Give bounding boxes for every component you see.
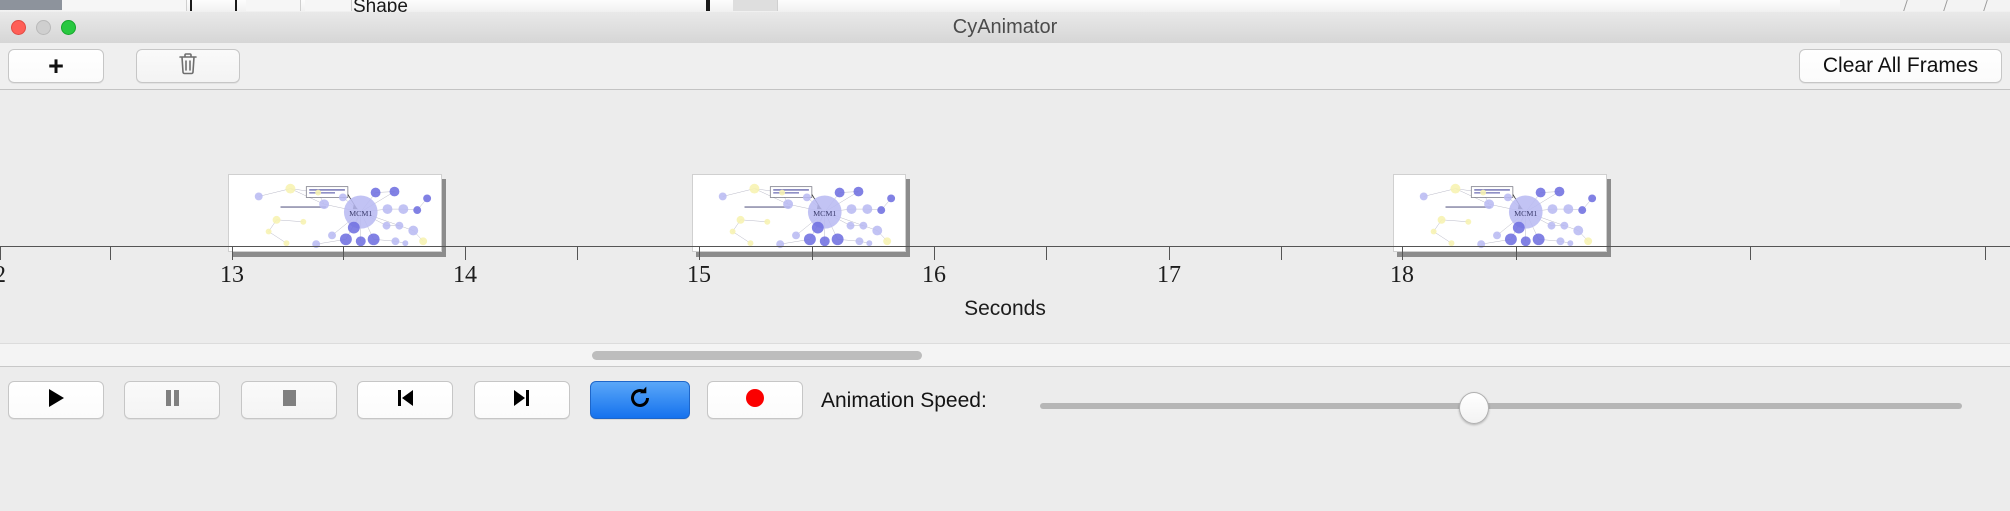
timeline-major-tick: [699, 247, 700, 260]
timeline-frame[interactable]: MCM1: [692, 174, 906, 252]
toolbar: + Clear All Frames: [0, 43, 2010, 90]
timeline-tick-label: 15: [687, 262, 711, 289]
svg-text:MCM1: MCM1: [813, 209, 836, 218]
loop-button[interactable]: [590, 381, 690, 419]
frame-thumbnail[interactable]: MCM1: [692, 174, 906, 252]
playback-control-bar: Animation Speed:: [0, 366, 2010, 511]
delete-frame-button[interactable]: [136, 49, 240, 83]
timeline-tick-label: 16: [922, 262, 946, 289]
skip-back-icon: [393, 386, 417, 415]
timeline-tick-label: 18: [1390, 262, 1414, 289]
timeline-major-tick: [1402, 247, 1403, 260]
cyanimator-window: Shape CyAnimator + Clear All Frames: [0, 0, 2010, 510]
frame-thumbnail[interactable]: MCM1: [1393, 174, 1607, 252]
record-icon: [743, 386, 767, 415]
timeline-minor-tick: [1281, 247, 1282, 260]
background-window-segment: [733, 0, 778, 11]
timeline-minor-tick: [343, 247, 344, 260]
animation-speed-slider-thumb[interactable]: [1459, 392, 1489, 424]
skip-to-end-button[interactable]: [474, 381, 570, 419]
timeline-minor-tick: [577, 247, 578, 260]
axis-title: Seconds: [0, 297, 2010, 321]
svg-text:MCM1: MCM1: [349, 209, 372, 218]
title-bar: CyAnimator: [0, 12, 2010, 44]
stop-icon: [277, 386, 301, 415]
loop-icon: [627, 385, 653, 416]
skip-to-start-button[interactable]: [357, 381, 453, 419]
trash-icon: [178, 52, 198, 81]
timeline-ruler: [0, 246, 2010, 247]
window-title: CyAnimator: [0, 12, 2010, 43]
animation-speed-slider[interactable]: [1040, 403, 1962, 409]
stop-button[interactable]: [241, 381, 337, 419]
timeline-frame[interactable]: MCM1: [228, 174, 442, 252]
timeline-frame[interactable]: MCM1: [1393, 174, 1607, 252]
background-window-tick: [190, 0, 192, 11]
background-window-tick: [235, 0, 237, 11]
pause-icon: [160, 386, 184, 415]
timeline-panel[interactable]: MCM1MCM1MCM1 2131415161718 Seconds: [0, 90, 2010, 343]
timeline-major-tick: [934, 247, 935, 260]
clear-all-frames-label: Clear All Frames: [1823, 54, 1978, 78]
clear-all-frames-button[interactable]: Clear All Frames: [1799, 49, 2002, 83]
skip-forward-icon: [510, 386, 534, 415]
timeline-minor-tick: [1046, 247, 1047, 260]
timeline-major-tick: [0, 247, 1, 260]
record-button[interactable]: [707, 381, 803, 419]
background-window-segment: [246, 0, 301, 11]
timeline-major-tick: [232, 247, 233, 260]
background-window-tick: [706, 0, 710, 11]
background-window-dark-panel: [0, 0, 62, 10]
pause-button[interactable]: [124, 381, 220, 419]
background-window-segment: [305, 0, 352, 11]
background-window-segment: [62, 0, 141, 11]
timeline-minor-tick: [1516, 247, 1517, 260]
timeline-scrollbar[interactable]: [0, 343, 2010, 368]
timeline-scrollbar-thumb[interactable]: [592, 351, 922, 360]
timeline-major-tick: [1169, 247, 1170, 260]
timeline-minor-tick: [1750, 247, 1751, 260]
play-button[interactable]: [8, 381, 104, 419]
background-window-segment: [140, 0, 187, 11]
timeline-minor-tick: [812, 247, 813, 260]
svg-text:MCM1: MCM1: [1514, 209, 1537, 218]
timeline-tick-label: 17: [1157, 262, 1181, 289]
timeline-tick-label: 2: [0, 262, 6, 289]
animation-speed-label: Animation Speed:: [821, 389, 987, 413]
timeline-major-tick: [465, 247, 466, 260]
timeline-tick-label: 13: [220, 262, 244, 289]
frame-thumbnail[interactable]: MCM1: [228, 174, 442, 252]
play-icon: [43, 385, 69, 416]
timeline-minor-tick: [1985, 247, 1986, 260]
timeline-tick-label: 14: [453, 262, 477, 289]
add-frame-button[interactable]: +: [8, 49, 104, 83]
timeline-minor-tick: [110, 247, 111, 260]
plus-icon: +: [48, 53, 64, 80]
